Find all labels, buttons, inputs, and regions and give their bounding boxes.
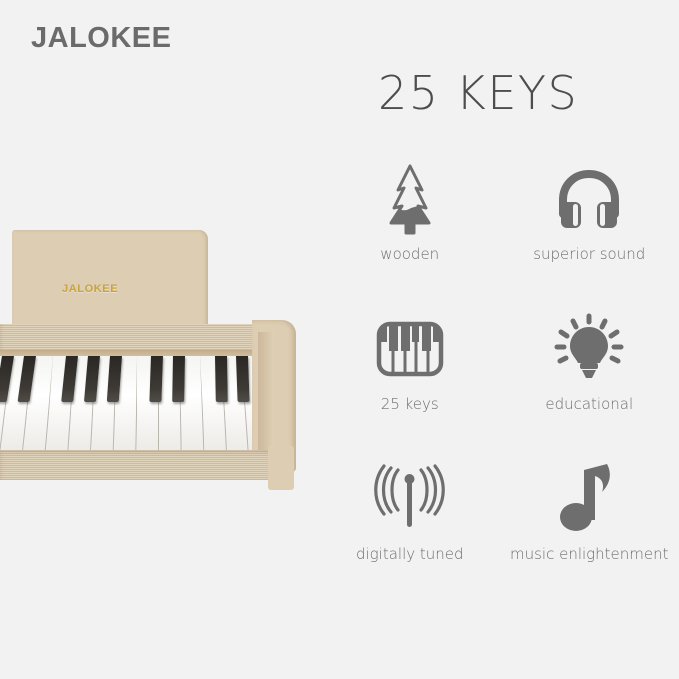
black-key [215,356,228,402]
feature-item-music-enlightenment: music enlightenment [500,460,679,610]
headphones-icon [553,160,625,238]
black-key [236,356,250,402]
piano-keybed [0,356,276,454]
black-key [172,356,185,402]
piano-side-panel-shadow [258,332,274,452]
feature-label: superior sound [533,245,645,263]
feature-label: digitally tuned [356,545,464,563]
music-note-icon [558,460,620,538]
feature-item-wooden: wooden [320,160,500,310]
signal-antenna-icon [372,460,448,538]
piano-front-foot [268,446,294,490]
feature-item-educational: educational [500,310,679,460]
feature-label: wooden [380,245,439,263]
feature-label: 25 keys [381,395,439,413]
feature-label: educational [545,395,633,413]
feature-item-superior-sound: superior sound [500,160,679,310]
feature-item-digitally-tuned: digitally tuned [320,460,500,610]
pine-tree-icon [381,160,439,238]
piano-keys-icon [376,310,444,388]
product-image-toy-piano: JALOKEE [0,228,312,493]
piano-front-rail [0,450,290,480]
brand-logo: JALOKEE [31,22,171,55]
light-bulb-icon [553,310,625,388]
page-title: 25 KEYS [378,66,578,120]
black-key [149,356,163,402]
feature-label: music enlightenment [510,545,669,563]
feature-grid: wooden superior sound [320,160,679,610]
feature-item-25-keys: 25 keys [320,310,500,460]
product-logo-engraving: JALOKEE [62,283,118,295]
